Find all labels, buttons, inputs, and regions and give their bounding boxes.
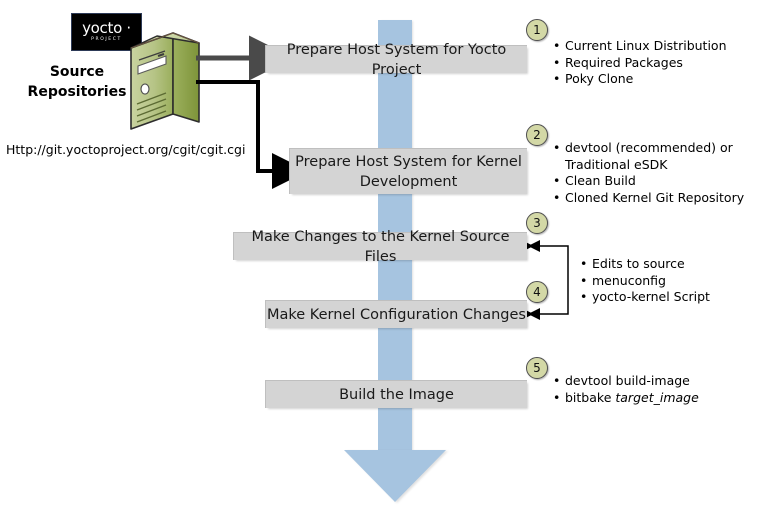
- step-1-bullet-list: Current Linux Distribution Required Pack…: [553, 38, 753, 88]
- steps-3-4-bullet-list: Edits to source menuconfig yocto-kernel …: [580, 256, 760, 306]
- step-number-5: 5: [526, 357, 548, 379]
- list-item: yocto-kernel Script: [580, 289, 760, 306]
- list-item: Required Packages: [553, 55, 753, 72]
- step-number-1: 1: [526, 19, 548, 41]
- step-number-2: 2: [526, 124, 548, 146]
- diagram-canvas: yocto · PROJECT: [0, 0, 769, 517]
- yocto-logo-subtitle: PROJECT: [91, 38, 122, 43]
- source-repositories-label: Source Repositories: [22, 62, 132, 102]
- list-item: bitbake target_image: [553, 390, 753, 407]
- list-item-text: bitbake: [565, 390, 615, 405]
- list-item: Clean Build: [553, 173, 753, 190]
- source-repositories-url: Http://git.yoctoproject.org/cgit/cgit.cg…: [6, 142, 245, 157]
- list-item: Current Linux Distribution: [553, 38, 753, 55]
- step-2-bullet-list: devtool (recommended) or Traditional eSD…: [553, 140, 753, 206]
- list-item-emphasis: target_image: [615, 390, 698, 405]
- list-item: Poky Clone: [553, 71, 753, 88]
- list-item: devtool (recommended) or Traditional eSD…: [553, 140, 753, 173]
- list-item: devtool build-image: [553, 373, 753, 390]
- yocto-logo-word: yocto ·: [82, 21, 131, 36]
- process-box-prepare-host-kernel[interactable]: Prepare Host System for Kernel Developme…: [289, 148, 527, 194]
- list-item: Edits to source: [580, 256, 760, 273]
- step-number-4: 4: [526, 281, 548, 303]
- process-box-prepare-host-yocto[interactable]: Prepare Host System for Yocto Project: [265, 45, 527, 73]
- workflow-backbone-arrow-head: [344, 450, 446, 502]
- list-item: menuconfig: [580, 273, 760, 290]
- list-item: Cloned Kernel Git Repository: [553, 190, 753, 207]
- step-5-bullet-list: devtool build-image bitbake target_image: [553, 373, 753, 406]
- process-box-make-kernel-source-changes[interactable]: Make Changes to the Kernel Source Files: [233, 232, 527, 260]
- server-icon: [128, 26, 202, 134]
- process-box-build-the-image[interactable]: Build the Image: [265, 380, 527, 408]
- list-item-text: devtool build-image: [565, 373, 690, 388]
- step-number-3: 3: [526, 212, 548, 234]
- process-box-make-kernel-config-changes[interactable]: Make Kernel Configuration Changes: [265, 300, 527, 328]
